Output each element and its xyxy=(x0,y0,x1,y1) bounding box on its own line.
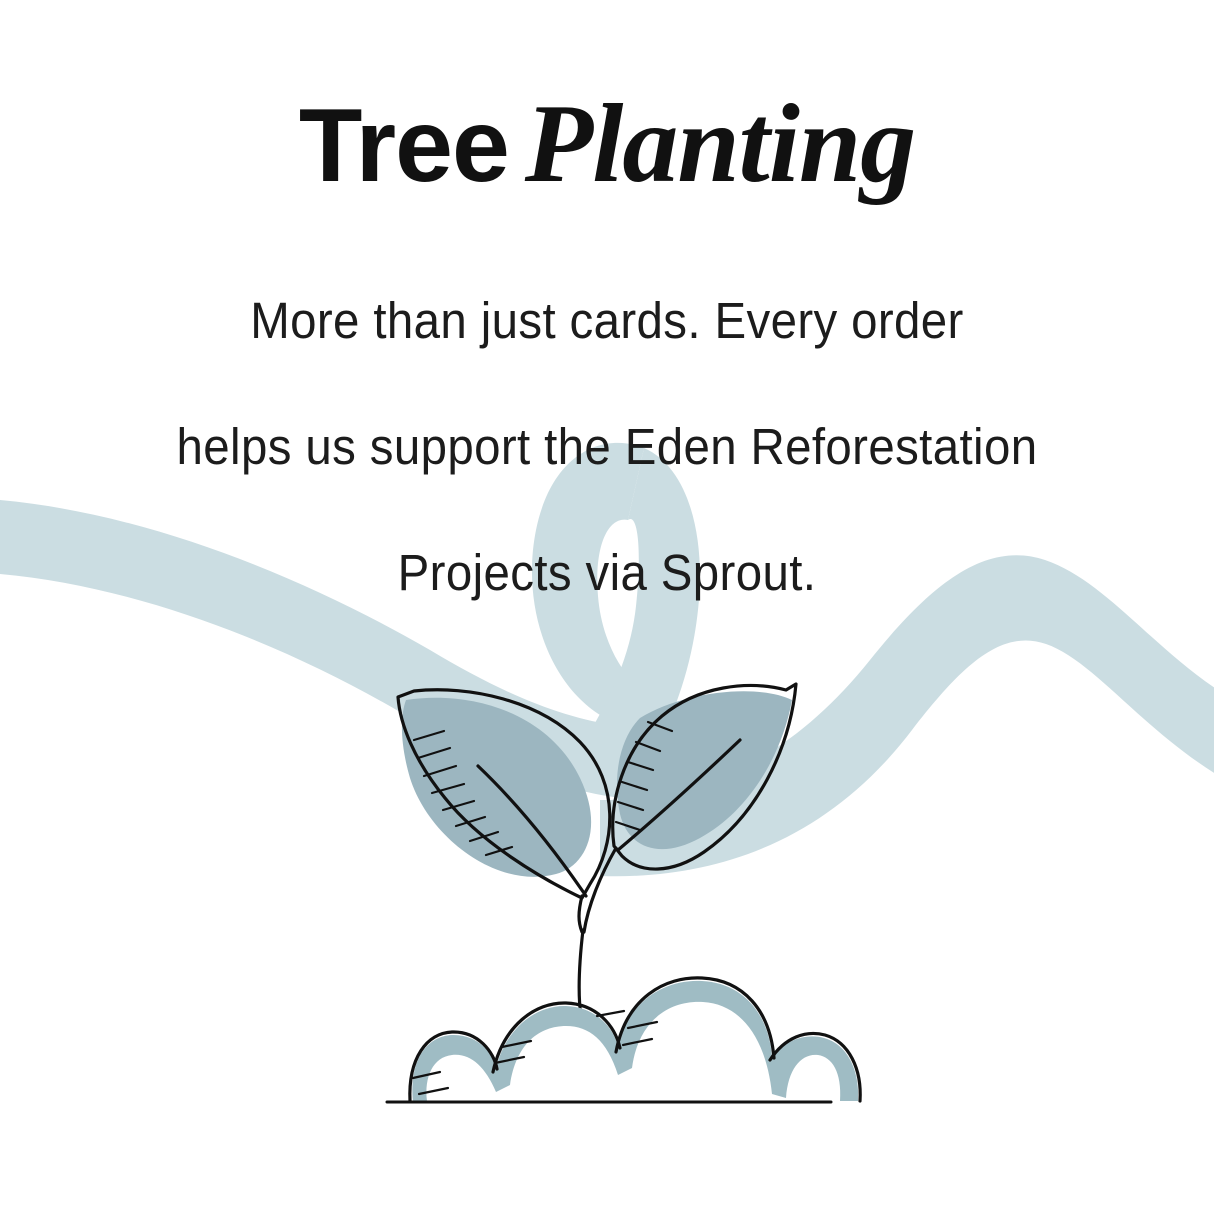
tree-planting-banner: TreePlanting More than just cards. Every… xyxy=(0,0,1214,1214)
title-bold-word: Tree xyxy=(299,88,509,204)
title-italic-word: Planting xyxy=(525,82,915,206)
leaf-right-fill xyxy=(617,691,792,849)
leaf-left-outline xyxy=(398,690,610,898)
stem-branch-left xyxy=(579,896,582,932)
soil-bump-4-outline xyxy=(770,1033,860,1101)
subtitle-line-3: Projects via Sprout. xyxy=(42,510,1171,636)
leaf-right-outline xyxy=(613,684,796,869)
leaf-left-fill xyxy=(402,698,591,877)
soil-hatching xyxy=(413,1011,657,1094)
stem-main xyxy=(579,930,583,1017)
stem-branch-right xyxy=(584,848,616,932)
soil-bump-2-outline xyxy=(493,1003,620,1072)
leaf-right-hatching xyxy=(616,722,672,830)
page-title: TreePlanting xyxy=(0,0,1214,200)
soil-mound-fill xyxy=(389,981,858,1101)
subtitle-line-2: helps us support the Eden Reforestation xyxy=(42,384,1171,510)
leaf-left-hatching xyxy=(414,731,512,855)
text-content: TreePlanting More than just cards. Every… xyxy=(0,0,1214,636)
soil-bump-3-outline xyxy=(616,978,774,1058)
soil-mound-outline xyxy=(410,1032,497,1101)
soil-mound-shading xyxy=(412,981,858,1101)
subtitle-line-1: More than just cards. Every order xyxy=(42,258,1171,384)
leaf-right-vein xyxy=(618,740,740,850)
page-subtitle: More than just cards. Every order helps … xyxy=(0,200,1214,636)
leaf-left-vein xyxy=(478,766,586,896)
